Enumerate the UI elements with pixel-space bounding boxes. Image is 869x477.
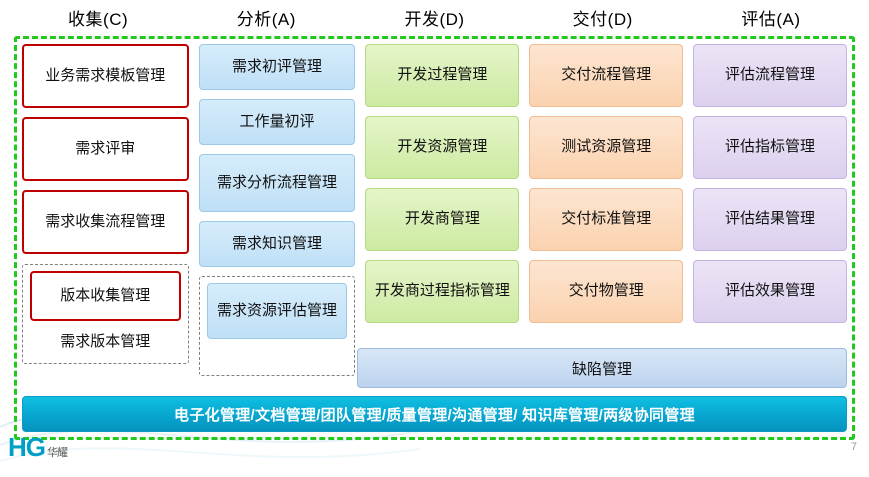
column-headers: 收集(C) 分析(A) 开发(D) 交付(D) 评估(A) (14, 6, 855, 38)
column-analysis: 需求初评管理 工作量初评 需求分析流程管理 需求知识管理 需求资源评估管理 (199, 44, 356, 388)
column-collect: 业务需求模板管理 需求评审 需求收集流程管理 版本收集管理 需求版本管理 (22, 44, 189, 388)
group-label-requirement-version-management: 需求版本管理 (60, 330, 150, 351)
box-delivery-standard-management[interactable]: 交付标准管理 (529, 188, 683, 251)
box-evaluation-process-management[interactable]: 评估流程管理 (693, 44, 847, 107)
page-number: 7 (851, 441, 857, 453)
box-defect-management[interactable]: 缺陷管理 (357, 348, 847, 388)
box-requirement-analysis-process[interactable]: 需求分析流程管理 (199, 154, 356, 212)
column-development: 开发过程管理 开发资源管理 开发商管理 开发商过程指标管理 (365, 44, 519, 388)
column-header-analysis: 分析(A) (182, 6, 350, 38)
column-header-dev: 开发(D) (350, 6, 518, 38)
company-logo: HG 华耀 (8, 432, 67, 463)
group-requirement-version-management: 版本收集管理 需求版本管理 (22, 264, 189, 364)
foundation-bar: 电子化管理/文档管理/团队管理/质量管理/沟通管理/ 知识库管理/两级协同管理 (22, 396, 847, 432)
box-version-collection-management[interactable]: 版本收集管理 (30, 271, 181, 321)
box-requirement-initial-review[interactable]: 需求初评管理 (199, 44, 356, 90)
box-requirement-collection-process[interactable]: 需求收集流程管理 (22, 190, 189, 254)
box-developer-process-metrics[interactable]: 开发商过程指标管理 (365, 260, 519, 323)
box-test-resource-management[interactable]: 测试资源管理 (529, 116, 683, 179)
box-requirement-review[interactable]: 需求评审 (22, 117, 189, 181)
column-header-collect: 收集(C) (14, 6, 182, 38)
slide-canvas: 收集(C) 分析(A) 开发(D) 交付(D) 评估(A) 业务需求模板管理 需… (0, 0, 869, 477)
box-development-resource-management[interactable]: 开发资源管理 (365, 116, 519, 179)
column-evaluation: 评估流程管理 评估指标管理 评估结果管理 评估效果管理 (693, 44, 847, 388)
group-requirement-resource-assessment: 需求资源评估管理 (199, 276, 356, 376)
box-requirement-resource-assessment[interactable]: 需求资源评估管理 (207, 283, 348, 339)
box-evaluation-result-management[interactable]: 评估结果管理 (693, 188, 847, 251)
logo-subtext: 华耀 (47, 444, 67, 460)
logo-text: HG (8, 432, 45, 463)
box-evaluation-metric-management[interactable]: 评估指标管理 (693, 116, 847, 179)
column-header-evaluation: 评估(A) (687, 6, 855, 38)
box-workload-initial-estimate[interactable]: 工作量初评 (199, 99, 356, 145)
column-delivery: 交付流程管理 测试资源管理 交付标准管理 交付物管理 (529, 44, 683, 388)
process-grid: 业务需求模板管理 需求评审 需求收集流程管理 版本收集管理 需求版本管理 需求初… (22, 44, 847, 388)
box-delivery-process-management[interactable]: 交付流程管理 (529, 44, 683, 107)
box-development-process-management[interactable]: 开发过程管理 (365, 44, 519, 107)
column-header-delivery: 交付(D) (519, 6, 687, 38)
box-business-requirement-template[interactable]: 业务需求模板管理 (22, 44, 189, 108)
box-requirement-knowledge-management[interactable]: 需求知识管理 (199, 221, 356, 267)
box-deliverable-management[interactable]: 交付物管理 (529, 260, 683, 323)
box-evaluation-effect-management[interactable]: 评估效果管理 (693, 260, 847, 323)
box-developer-management[interactable]: 开发商管理 (365, 188, 519, 251)
defect-management-row: 缺陷管理 (357, 348, 847, 388)
